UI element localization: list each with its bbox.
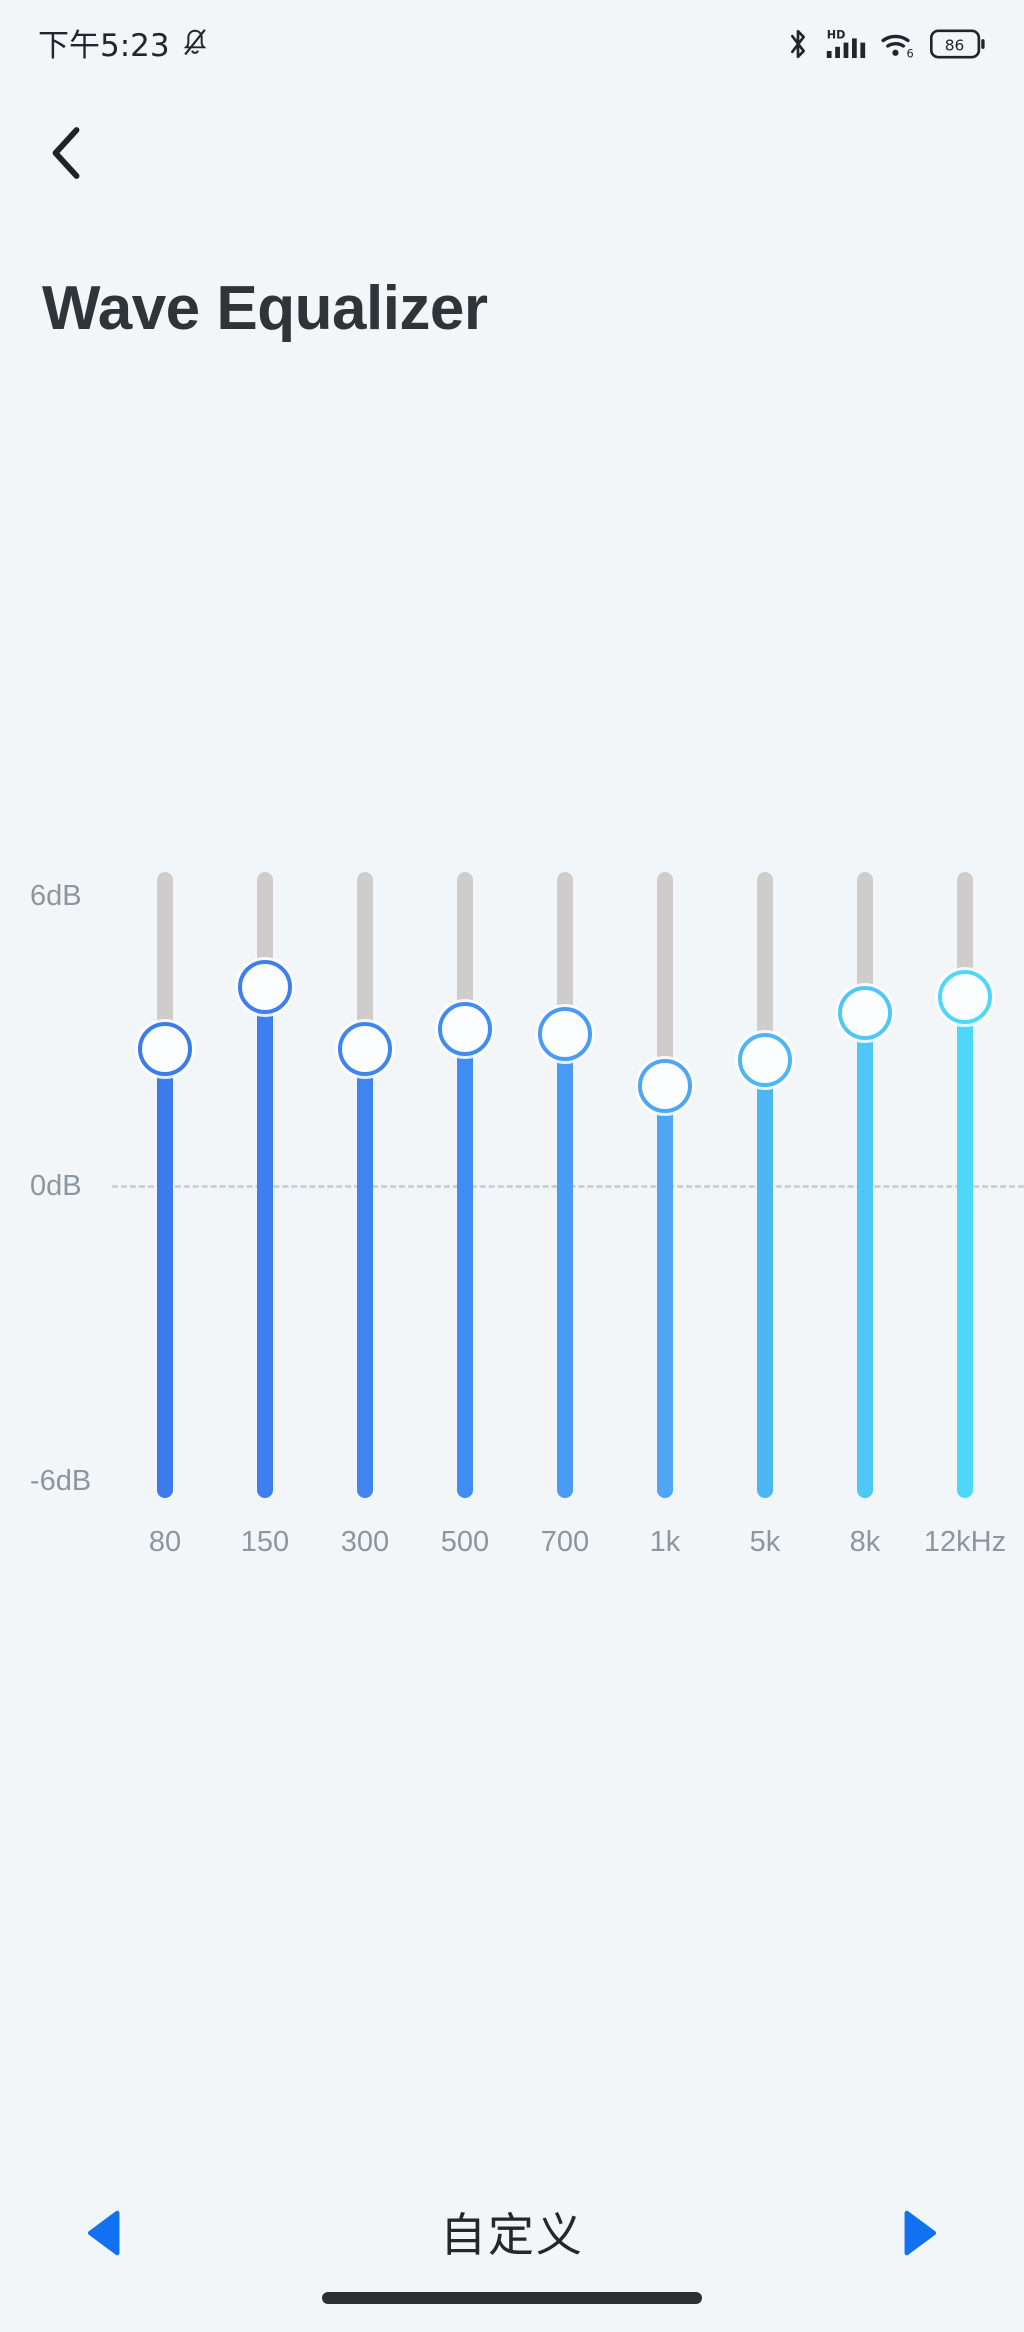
slider-thumb[interactable] [738,1033,792,1087]
page-title: Wave Equalizer [42,278,488,340]
next-preset-button[interactable] [884,2200,954,2270]
eq-slider-700[interactable] [520,872,610,1498]
slider-fill [657,1086,673,1498]
slider-fill [457,1029,473,1499]
eq-slider-150[interactable] [220,872,310,1498]
status-clock: 下午5:23 [38,31,170,62]
bluetooth-icon [785,27,811,66]
wifi-6-icon: 6 [879,27,917,66]
eq-slider-300[interactable] [320,872,410,1498]
slider-thumb[interactable] [538,1007,592,1061]
battery-icon: 86 [930,28,986,65]
status-bar-left: 下午5:23 [38,28,210,65]
eq-slider-500[interactable] [420,872,510,1498]
eq-slider-12kHz[interactable] [920,872,1010,1498]
back-button[interactable] [30,118,104,192]
battery-level-text: 86 [945,36,965,54]
triangle-right-icon [891,2205,947,2266]
slider-fill [257,987,273,1498]
home-indicator[interactable] [322,2292,702,2304]
previous-preset-button[interactable] [70,2200,140,2270]
svg-text:HD: HD [827,28,846,41]
slider-thumb[interactable] [338,1022,392,1076]
slider-fill [957,997,973,1498]
slider-fill [557,1034,573,1498]
slider-thumb[interactable] [838,986,892,1040]
svg-text:6: 6 [907,46,914,60]
eq-slider-1k[interactable] [620,872,710,1498]
slider-fill [357,1049,373,1498]
chevron-left-icon [44,124,90,187]
triangle-left-icon [77,2205,133,2266]
status-bar-right: HD 6 86 [785,27,986,66]
slider-fill [157,1049,173,1498]
eq-slider-8k[interactable] [820,872,910,1498]
bell-mute-icon [180,28,210,65]
slider-thumb[interactable] [638,1059,692,1113]
axis-label-min: -6dB [30,1467,91,1496]
eq-slider-5k[interactable] [720,872,810,1498]
slider-thumb[interactable] [138,1022,192,1076]
slider-fill [757,1060,773,1498]
cellular-signal-icon: HD [824,27,866,66]
frequency-label-12kHz: 12kHz [885,1528,1024,1557]
preset-name[interactable]: 自定义 [440,2212,584,2258]
preset-bar: 自定义 [0,2180,1024,2290]
status-bar: 下午5:23 HD [0,0,1024,92]
slider-fill [857,1013,873,1498]
slider-thumb[interactable] [238,960,292,1014]
slider-thumb[interactable] [938,970,992,1024]
eq-slider-80[interactable] [120,872,210,1498]
axis-label-zero: 0dB [30,1172,82,1201]
axis-label-max: 6dB [30,882,82,911]
slider-thumb[interactable] [438,1002,492,1056]
